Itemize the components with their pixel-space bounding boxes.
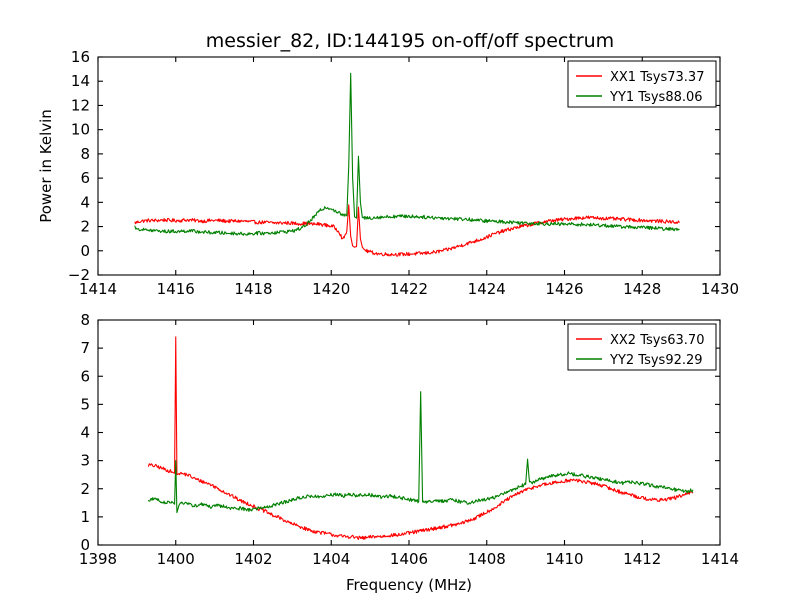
y-tick-label: 16 — [71, 48, 90, 66]
x-tick-label: 1422 — [390, 280, 428, 298]
y-tick-label: 3 — [80, 452, 90, 470]
y-tick-label: 6 — [80, 169, 90, 187]
y-tick-label: 12 — [71, 96, 90, 114]
legend-label: XX2 Tsys63.70 — [610, 333, 704, 348]
y-tick-label: 8 — [80, 145, 90, 163]
x-tick-label: 1400 — [157, 550, 195, 568]
x-axis-title: Frequency (MHz) — [346, 576, 472, 594]
legend: XX2 Tsys63.70YY2 Tsys92.29 — [568, 324, 716, 370]
y-tick-label: 0 — [80, 536, 90, 554]
x-tick-label: 1416 — [157, 280, 195, 298]
y-tick-label: 8 — [80, 311, 90, 329]
y-tick-label: 6 — [80, 367, 90, 385]
x-tick-label: 1404 — [312, 550, 350, 568]
x-tick-label: 1414 — [701, 550, 739, 568]
x-tick-label: 1430 — [701, 280, 739, 298]
y-tick-label: 7 — [80, 339, 90, 357]
legend-label: YY1 Tsys88.06 — [609, 90, 703, 105]
legend: XX1 Tsys73.37YY1 Tsys88.06 — [568, 61, 716, 107]
y-tick-label: 2 — [80, 480, 90, 498]
y-tick-label: 4 — [80, 193, 90, 211]
x-tick-label: 1428 — [623, 280, 661, 298]
figure-canvas: messier_82, ID:144195 on-off/off spectru… — [0, 0, 800, 600]
legend-label: XX1 Tsys73.37 — [610, 70, 704, 85]
x-tick-label: 1408 — [468, 550, 506, 568]
x-tick-label: 1402 — [234, 550, 272, 568]
spectrum-plot: messier_82, ID:144195 on-off/off spectru… — [0, 0, 800, 600]
y-tick-label: 4 — [80, 424, 90, 442]
y-tick-label: 0 — [80, 242, 90, 260]
x-tick-label: 1420 — [312, 280, 350, 298]
y-tick-label: −2 — [68, 266, 90, 284]
page-title: messier_82, ID:144195 on-off/off spectru… — [206, 30, 614, 52]
y-tick-label: 10 — [71, 121, 90, 139]
y-tick-label: 5 — [80, 395, 90, 413]
x-tick-label: 1424 — [468, 280, 506, 298]
x-tick-label: 1426 — [545, 280, 583, 298]
y-tick-label: 1 — [80, 508, 90, 526]
x-tick-label: 1406 — [390, 550, 428, 568]
x-tick-label: 1418 — [234, 280, 272, 298]
x-tick-label: 1412 — [623, 550, 661, 568]
x-tick-label: 1410 — [545, 550, 583, 568]
legend-label: YY2 Tsys92.29 — [609, 353, 703, 368]
y-tick-label: 2 — [80, 218, 90, 236]
y-axis-title: Power in Kelvin — [37, 109, 55, 223]
y-tick-label: 14 — [71, 72, 90, 90]
